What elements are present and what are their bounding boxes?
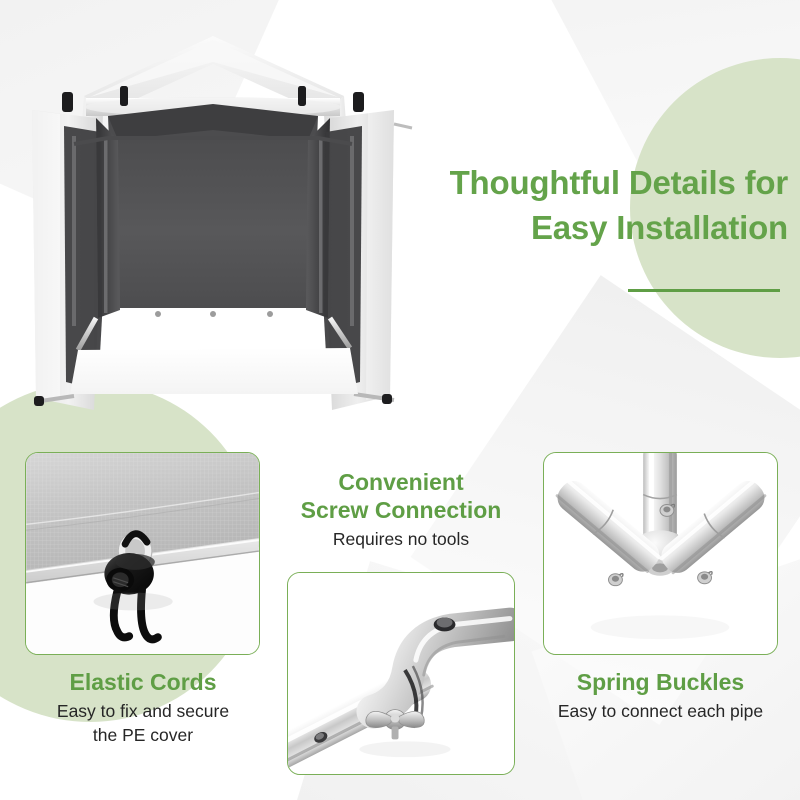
headline-line-2: Easy Installation [396, 205, 788, 250]
screw-connection-photo-frame [287, 572, 515, 775]
infographic-canvas: Thoughtful Details for Easy Installation [0, 0, 800, 800]
elastic-cords-subtitle-line-1: Easy to fix and secure [8, 699, 278, 723]
headline-line-1: Thoughtful Details for [396, 160, 788, 205]
spring-buckles-photo-frame [543, 452, 778, 655]
spring-buckles-subtitle: Easy to connect each pipe [528, 699, 793, 723]
screw-connection-caption: Convenient Screw Connection Requires no … [276, 468, 526, 551]
screw-connection-title-line-1: Convenient [276, 468, 526, 496]
headline: Thoughtful Details for Easy Installation [396, 160, 788, 250]
elastic-cords-subtitle-line-2: the PE cover [8, 723, 278, 747]
spring-buckles-title: Spring Buckles [528, 668, 793, 696]
headline-underline-rule [628, 289, 780, 292]
elastic-cords-title: Elastic Cords [8, 668, 278, 696]
screw-connection-subtitle: Requires no tools [276, 527, 526, 551]
hero-product-image [8, 18, 418, 428]
elastic-cords-photo-frame [25, 452, 260, 655]
spring-buckles-caption: Spring Buckles Easy to connect each pipe [528, 668, 793, 723]
elastic-cords-caption: Elastic Cords Easy to fix and secure the… [8, 668, 278, 747]
screw-connection-title-line-2: Screw Connection [276, 496, 526, 524]
